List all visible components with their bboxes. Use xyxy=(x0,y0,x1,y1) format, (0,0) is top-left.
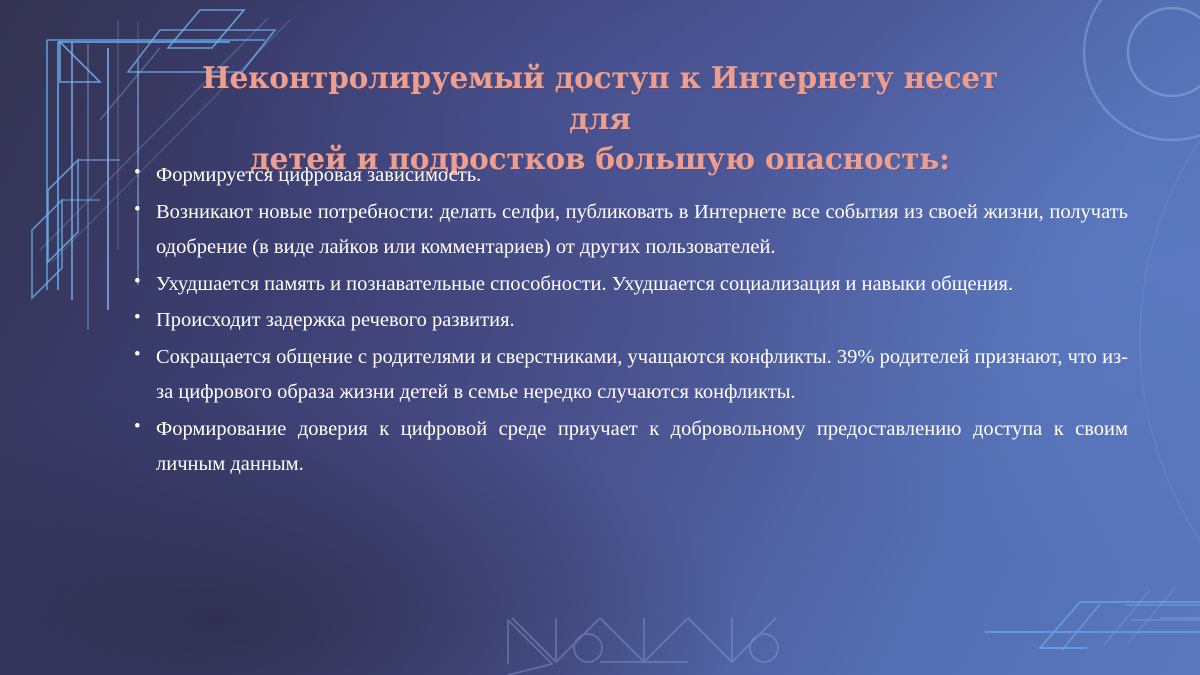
list-item: Формируется цифровая зависимость. xyxy=(128,158,1128,193)
slide-title-line-1: Неконтролируемый доступ к Интернету несе… xyxy=(175,58,1025,139)
slide-bullet-list: Формируется цифровая зависимость. Возник… xyxy=(128,158,1128,484)
list-item: Возникают новые потребности: делать селф… xyxy=(128,195,1128,265)
list-item: Сокращается общение с родителями и сверс… xyxy=(128,340,1128,410)
list-item: Происходит задержка речевого развития. xyxy=(128,303,1128,338)
list-item: Формирование доверия к цифровой среде пр… xyxy=(128,412,1128,482)
presentation-slide: Неконтролируемый доступ к Интернету несе… xyxy=(0,0,1200,675)
list-item: Ухудшается память и познавательные спосо… xyxy=(128,267,1128,302)
